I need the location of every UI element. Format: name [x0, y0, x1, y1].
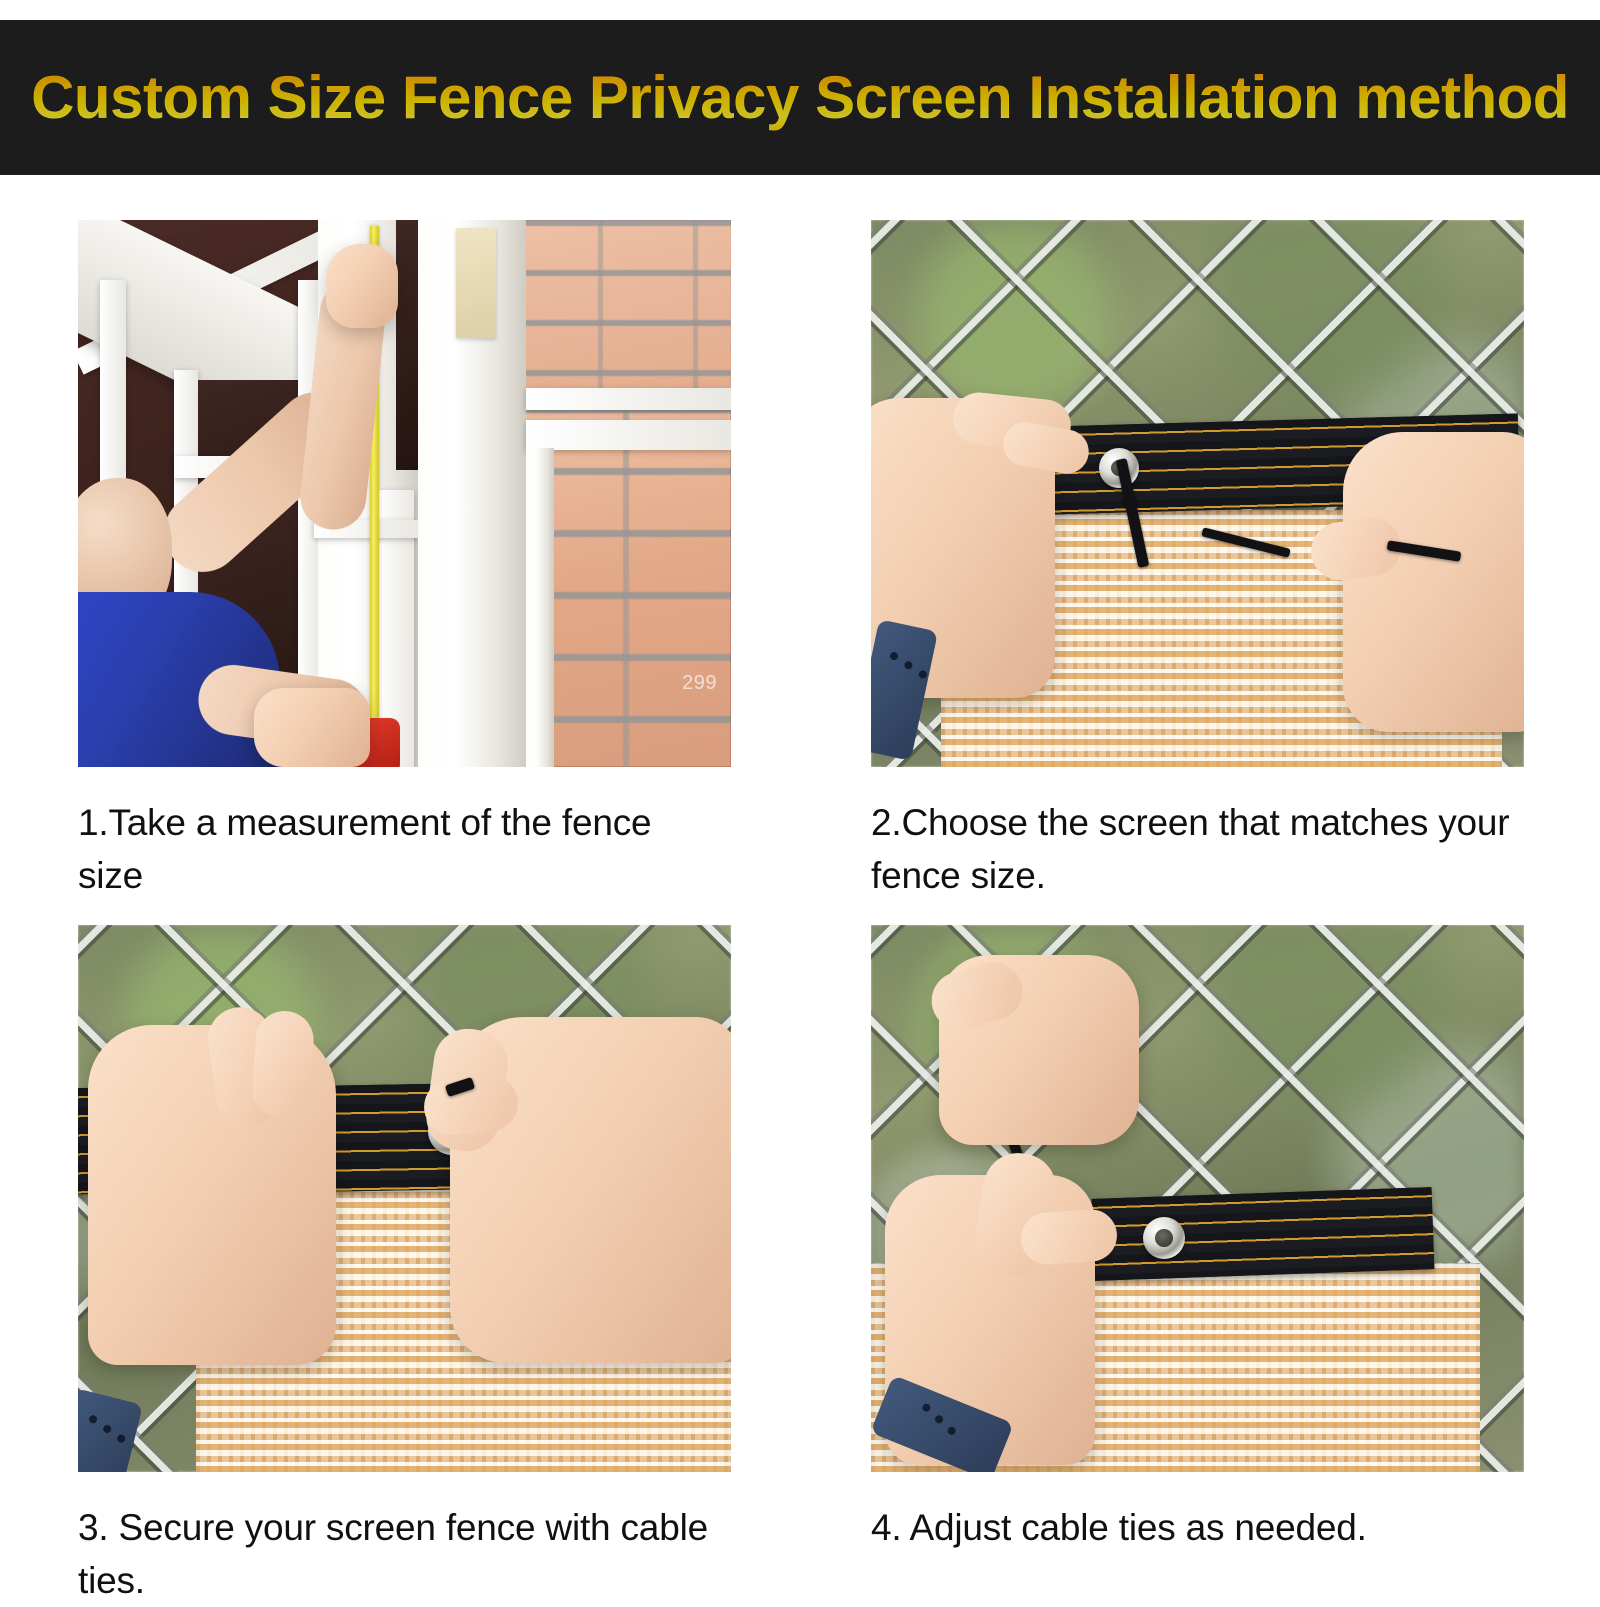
paper-note: [456, 228, 496, 338]
step-caption-4: 4. Adjust cable ties as needed.: [871, 1502, 1511, 1555]
infographic-page: Custom Size Fence Privacy Screen Install…: [0, 0, 1600, 1600]
step-card-1: 299 1.Take a measurement of the fence si…: [78, 220, 733, 902]
left-thumb: [250, 1009, 315, 1119]
lower-thumb: [1019, 1208, 1118, 1267]
window-glass-pane-3: [396, 220, 418, 470]
sill-trim-right-2: [526, 420, 731, 450]
step-caption-3: 3. Secure your screen fence with cable t…: [78, 1502, 718, 1607]
step-caption-2: 2.Choose the screen that matches your fe…: [871, 797, 1511, 902]
upper-hand: [326, 244, 398, 328]
step-card-3: 3. Secure your screen fence with cable t…: [78, 925, 733, 1607]
step-card-4: 4. Adjust cable ties as needed.: [871, 925, 1526, 1555]
step-caption-1: 1.Take a measurement of the fence size: [78, 797, 718, 902]
right-hand: [1343, 432, 1524, 732]
header-bar: Custom Size Fence Privacy Screen Install…: [0, 20, 1600, 175]
image-watermark: 299: [682, 672, 717, 695]
brick-wall-upper: [503, 220, 731, 405]
step-photo-3: [78, 925, 731, 1472]
page-title: Custom Size Fence Privacy Screen Install…: [31, 63, 1569, 132]
sill-trim-right: [526, 388, 731, 410]
step-card-2: 2.Choose the screen that matches your fe…: [871, 220, 1526, 902]
steps-grid: 299 1.Take a measurement of the fence si…: [0, 175, 1600, 1600]
window-post-far-right: [526, 448, 554, 767]
screen-grommet: [1143, 1217, 1185, 1259]
step-photo-2: [871, 220, 1524, 767]
lower-hand: [254, 688, 370, 767]
step-photo-1: 299: [78, 220, 731, 767]
step-photo-4: [871, 925, 1524, 1472]
